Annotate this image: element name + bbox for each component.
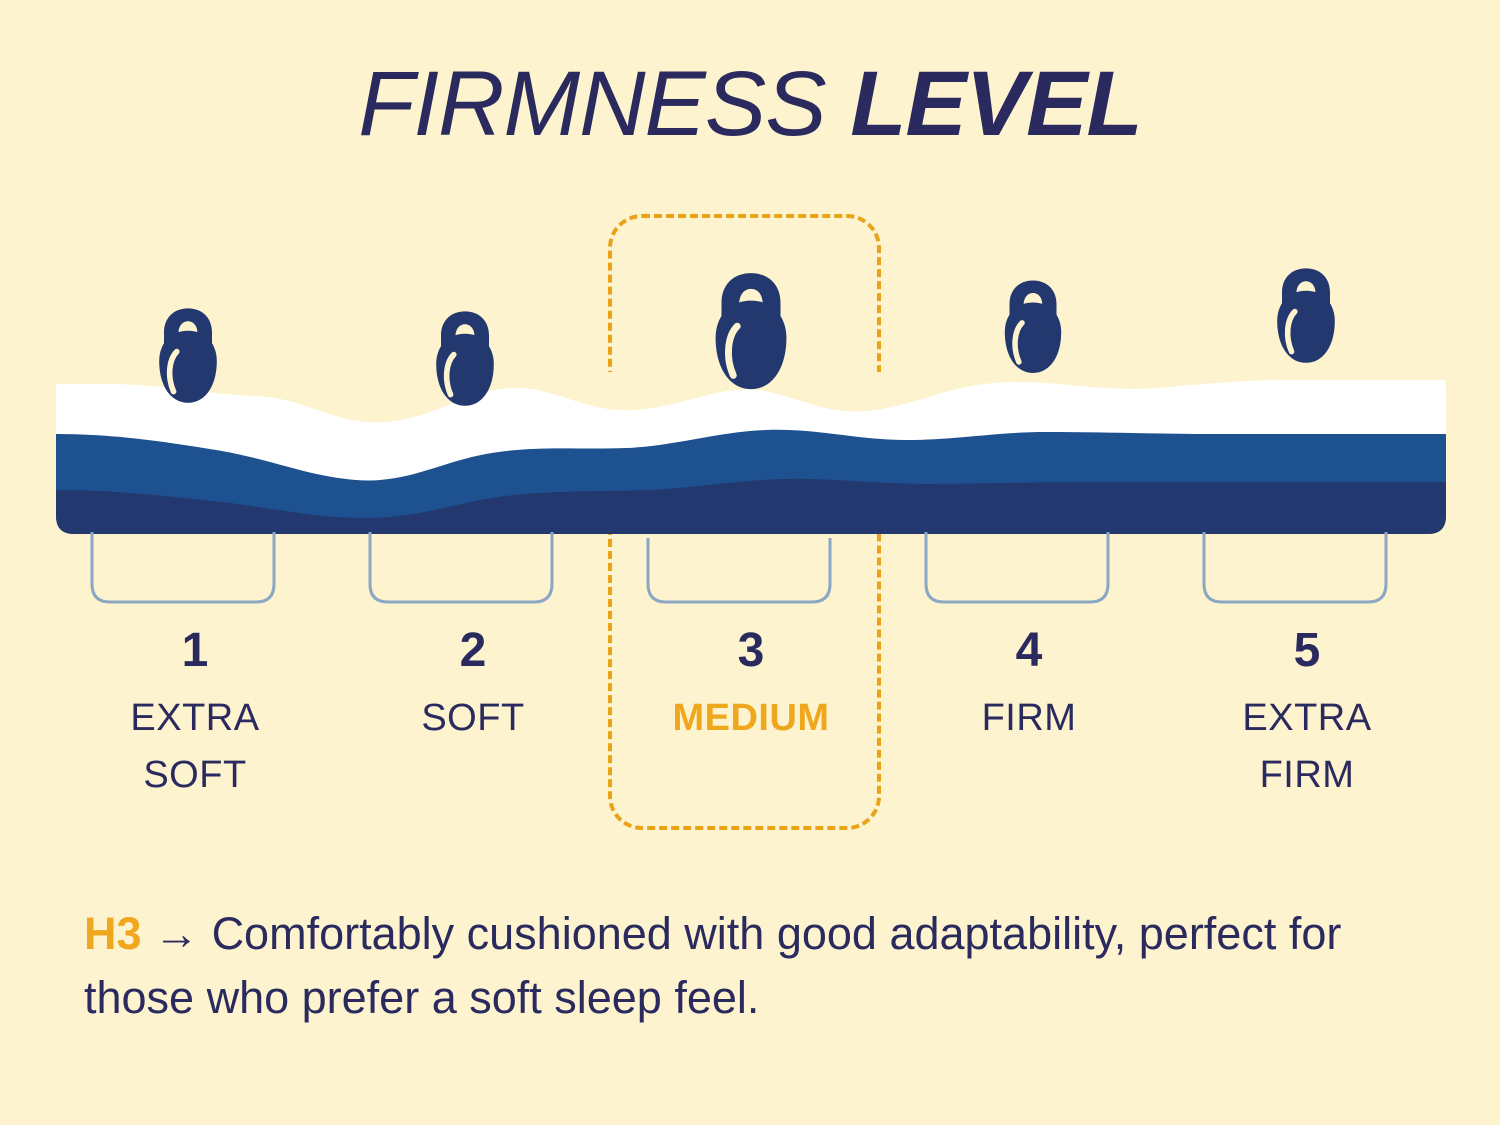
footnote-text: Comfortably cushioned with good adaptabi… bbox=[84, 908, 1341, 1023]
mattress-base-supports bbox=[56, 532, 1446, 612]
page-title: FIRMNESS LEVEL bbox=[0, 58, 1500, 150]
scale-number-1: 1 bbox=[56, 626, 334, 676]
footnote-tag: H3 bbox=[84, 908, 142, 959]
kettlebell-icon-level-3 bbox=[692, 265, 810, 413]
scale-number-3: 3 bbox=[612, 626, 890, 676]
scale-item-2[interactable]: 2 SOFT bbox=[334, 626, 612, 836]
kettlebell-icon-level-5 bbox=[1258, 262, 1354, 382]
kettlebell-icon-level-4 bbox=[986, 274, 1080, 392]
scale-number-2: 2 bbox=[334, 626, 612, 676]
title-part-bold: LEVEL bbox=[850, 53, 1141, 155]
title-part-light: FIRMNESS bbox=[358, 53, 825, 155]
footnote-description: H3 → Comfortably cushioned with good ada… bbox=[84, 902, 1414, 1030]
scale-item-3[interactable]: 3 MEDIUM bbox=[612, 626, 890, 836]
footnote-arrow-icon: → bbox=[154, 908, 199, 959]
scale-name-2: SOFT bbox=[334, 690, 612, 746]
scale-item-1[interactable]: 1 EXTRASOFT bbox=[56, 626, 334, 836]
scale-name-1: EXTRASOFT bbox=[56, 690, 334, 802]
scale-item-4[interactable]: 4 FIRM bbox=[890, 626, 1168, 836]
kettlebell-icon-level-2 bbox=[417, 305, 513, 425]
scale-name-3: MEDIUM bbox=[612, 690, 890, 746]
scale-item-5[interactable]: 5 EXTRAFIRM bbox=[1168, 626, 1446, 836]
firmness-level-infographic: FIRMNESS LEVEL bbox=[0, 0, 1500, 1125]
scale-name-4: FIRM bbox=[890, 690, 1168, 746]
scale-number-4: 4 bbox=[890, 626, 1168, 676]
scale-number-5: 5 bbox=[1168, 626, 1446, 676]
firmness-scale-labels: 1 EXTRASOFT 2 SOFT 3 MEDIUM 4 FIRM 5 EXT… bbox=[56, 626, 1446, 836]
scale-name-5: EXTRAFIRM bbox=[1168, 690, 1446, 802]
kettlebell-icon-level-1 bbox=[140, 302, 236, 422]
